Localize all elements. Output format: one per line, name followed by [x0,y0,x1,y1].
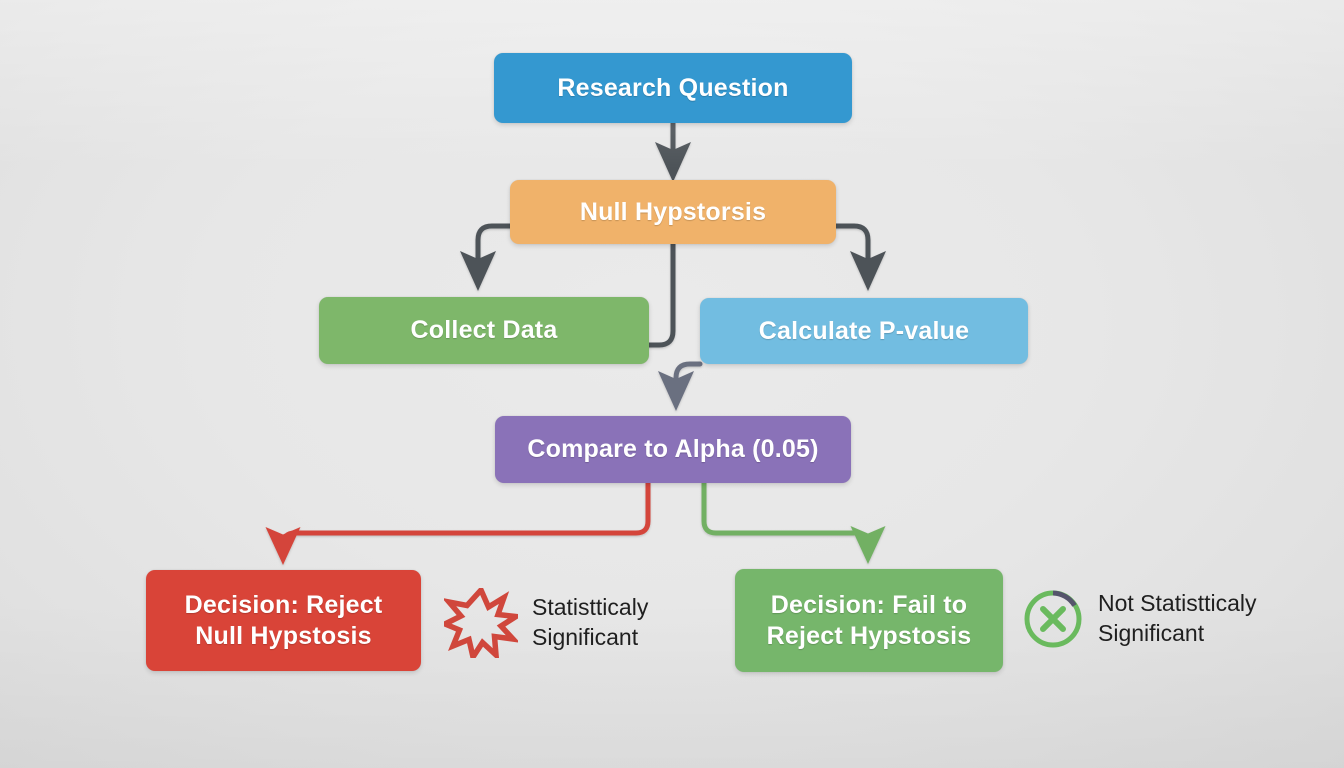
legend-text-not-significant: Not Statistticaly Significant [1098,589,1257,649]
node-collect-data[interactable]: Collect Data [319,297,649,364]
node-research-question[interactable]: Research Question [494,53,852,123]
legend-text-significant: Statistticaly Significant [532,593,648,653]
node-compare-to-alpha[interactable]: Compare to Alpha (0.05) [495,416,851,483]
node-calculate-p-value[interactable]: Calculate P-value [700,298,1028,364]
edge-compare-to-fail [704,483,868,546]
node-label-decision-fail-to-reject: Decision: Fail to Reject Hypstosis [767,590,972,651]
edge-null-to-collect [478,226,510,272]
flowchart-canvas: Research Question Null Hypstorsis Collec… [0,0,1344,768]
node-label-research-question: Research Question [557,73,788,104]
legend-significant: Statistticaly Significant [444,588,648,658]
edge-compare-to-reject [283,483,648,547]
edge-null-to-collect-side [649,244,673,345]
node-label-compare-to-alpha: Compare to Alpha (0.05) [527,434,818,465]
node-decision-reject[interactable]: Decision: Reject Null Hypstosis [146,570,421,671]
node-null-hypothesis[interactable]: Null Hypstorsis [510,180,836,244]
node-label-decision-reject: Decision: Reject Null Hypstosis [185,590,383,651]
edge-null-to-pvalue [836,226,868,272]
node-label-null-hypothesis: Null Hypstorsis [580,197,766,228]
node-label-calculate-p-value: Calculate P-value [759,316,969,347]
node-decision-fail-to-reject[interactable]: Decision: Fail to Reject Hypstosis [735,569,1003,672]
starburst-icon [444,588,518,658]
node-label-collect-data: Collect Data [411,315,558,346]
legend-not-significant: Not Statistticaly Significant [1022,588,1257,650]
circle-x-icon [1022,588,1084,650]
edge-pvalue-to-compare [676,364,700,392]
